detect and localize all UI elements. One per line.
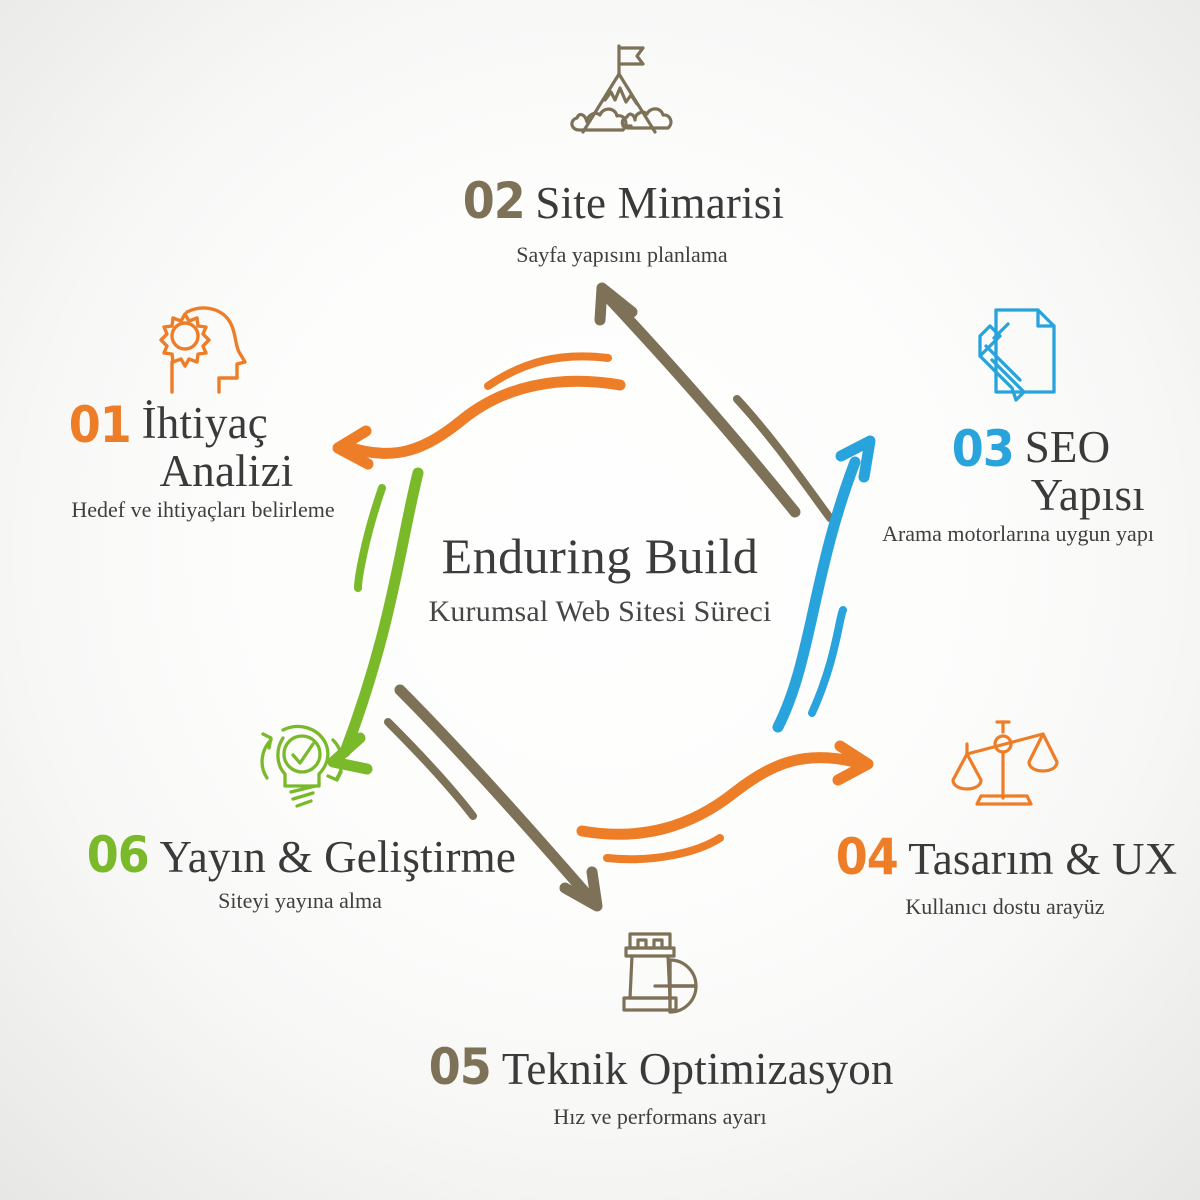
step-01-title-line2: Analizi xyxy=(142,448,294,496)
step-01-subtitle: Hedef ve ihtiyaçları belirleme xyxy=(0,497,400,523)
step-05-title: Teknik Optimizasyon xyxy=(502,1046,894,1094)
chess-rook-pie-chart-icon xyxy=(600,926,720,1026)
step-02-number: 02 xyxy=(462,176,524,226)
step-04-headline: 04 Tasarım & UX xyxy=(810,832,1200,884)
step-04-icon-wrap xyxy=(810,718,1200,814)
step-01-icon-wrap xyxy=(0,296,400,400)
step-05-subtitle: Hız ve performans ayarı xyxy=(380,1104,940,1130)
step-01-title: İhtiyaç Analizi xyxy=(142,400,294,495)
step-03-title: SEO Yapısı xyxy=(1025,424,1145,519)
mountain-flag-icon xyxy=(557,38,687,154)
step-06-icon-wrap xyxy=(60,716,540,814)
step-02-icon-wrap xyxy=(352,36,892,154)
step-05-headline: 05 Teknik Optimizasyon xyxy=(380,1042,940,1094)
center-subtitle: Kurumsal Web Sitesi Süreci xyxy=(300,595,900,629)
step-02-headline: 02 Site Mimarisi xyxy=(352,176,892,228)
step-03[interactable]: 03 SEO Yapısı Arama motorlarına uygun ya… xyxy=(820,300,1200,547)
step-02-title: Site Mimarisi xyxy=(535,180,784,228)
step-03-title-line2: Yapısı xyxy=(1025,472,1145,520)
step-03-number: 03 xyxy=(952,424,1014,474)
infographic-canvas: 01 İhtiyaç Analizi Hedef ve ihtiyaçları … xyxy=(0,0,1200,1200)
step-01-headline: 01 İhtiyaç Analizi xyxy=(0,400,400,495)
step-04-number: 04 xyxy=(835,832,897,882)
step-06-number: 06 xyxy=(87,830,149,880)
step-02[interactable]: 02 Site Mimarisi Sayfa yapısını planlama xyxy=(352,36,892,268)
balance-scale-icon xyxy=(945,718,1065,814)
step-05[interactable]: 05 Teknik Optimizasyon Hız ve performans… xyxy=(380,926,940,1130)
step-03-title-line1: SEO xyxy=(1025,422,1111,472)
arrow-01-to-02 xyxy=(600,288,830,518)
step-05-icon-wrap xyxy=(380,926,940,1026)
step-03-headline: 03 SEO Yapısı xyxy=(820,424,1200,519)
step-03-icon-wrap xyxy=(820,300,1200,404)
step-06-headline: 06 Yayın & Geliştirme xyxy=(60,830,540,882)
head-gear-icon xyxy=(141,296,259,400)
step-04-subtitle: Kullanıcı dostu arayüz xyxy=(810,894,1200,920)
step-06[interactable]: 06 Yayın & Geliştirme Siteyi yayına alma xyxy=(60,716,540,914)
step-04-title: Tasarım & UX xyxy=(908,836,1177,884)
step-06-subtitle: Siteyi yayına alma xyxy=(60,888,540,914)
step-02-subtitle: Sayfa yapısını planlama xyxy=(352,242,892,268)
lightbulb-check-refresh-icon xyxy=(241,716,359,814)
step-04[interactable]: 04 Tasarım & UX Kullanıcı dostu arayüz xyxy=(810,718,1200,920)
center-block: Enduring Build Kurumsal Web Sitesi Sürec… xyxy=(300,530,900,629)
document-pen-icon xyxy=(950,300,1070,404)
center-title: Enduring Build xyxy=(300,530,900,583)
step-06-title: Yayın & Geliştirme xyxy=(160,834,517,882)
step-01[interactable]: 01 İhtiyaç Analizi Hedef ve ihtiyaçları … xyxy=(0,296,400,523)
step-01-title-line1: İhtiyaç xyxy=(142,398,268,448)
step-01-number: 01 xyxy=(69,400,131,450)
step-05-number: 05 xyxy=(429,1042,491,1092)
